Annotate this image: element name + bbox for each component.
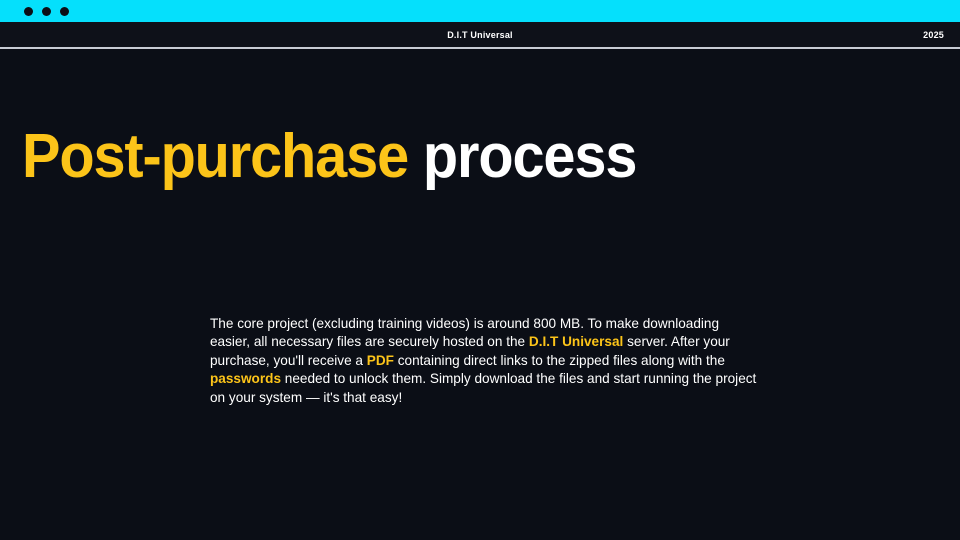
- body-highlight-passwords: passwords: [210, 371, 281, 386]
- body-highlight-pdf: PDF: [367, 353, 394, 368]
- window-dot-maximize-icon[interactable]: [60, 7, 69, 16]
- header-divider: [0, 47, 960, 49]
- header-year-label: 2025: [923, 22, 944, 48]
- body-segment-3: containing direct links to the zipped fi…: [394, 353, 725, 368]
- window-dots-group: [24, 0, 69, 22]
- top-accent-bar: [0, 0, 960, 22]
- body-paragraph: The core project (excluding training vid…: [210, 315, 762, 408]
- window-dot-minimize-icon[interactable]: [42, 7, 51, 16]
- page-title-plain: process: [408, 122, 636, 191]
- page-title-accent: Post-purchase: [22, 122, 408, 191]
- window-dot-close-icon[interactable]: [24, 7, 33, 16]
- body-segment-4: needed to unlock them. Simply download t…: [210, 371, 756, 405]
- page-title: Post-purchase process: [22, 124, 636, 189]
- body-highlight-brand: D.I.T Universal: [529, 334, 623, 349]
- slide-root: D.I.T Universal 2025 Post-purchase proce…: [0, 0, 960, 540]
- header-brand-label: D.I.T Universal: [0, 22, 960, 48]
